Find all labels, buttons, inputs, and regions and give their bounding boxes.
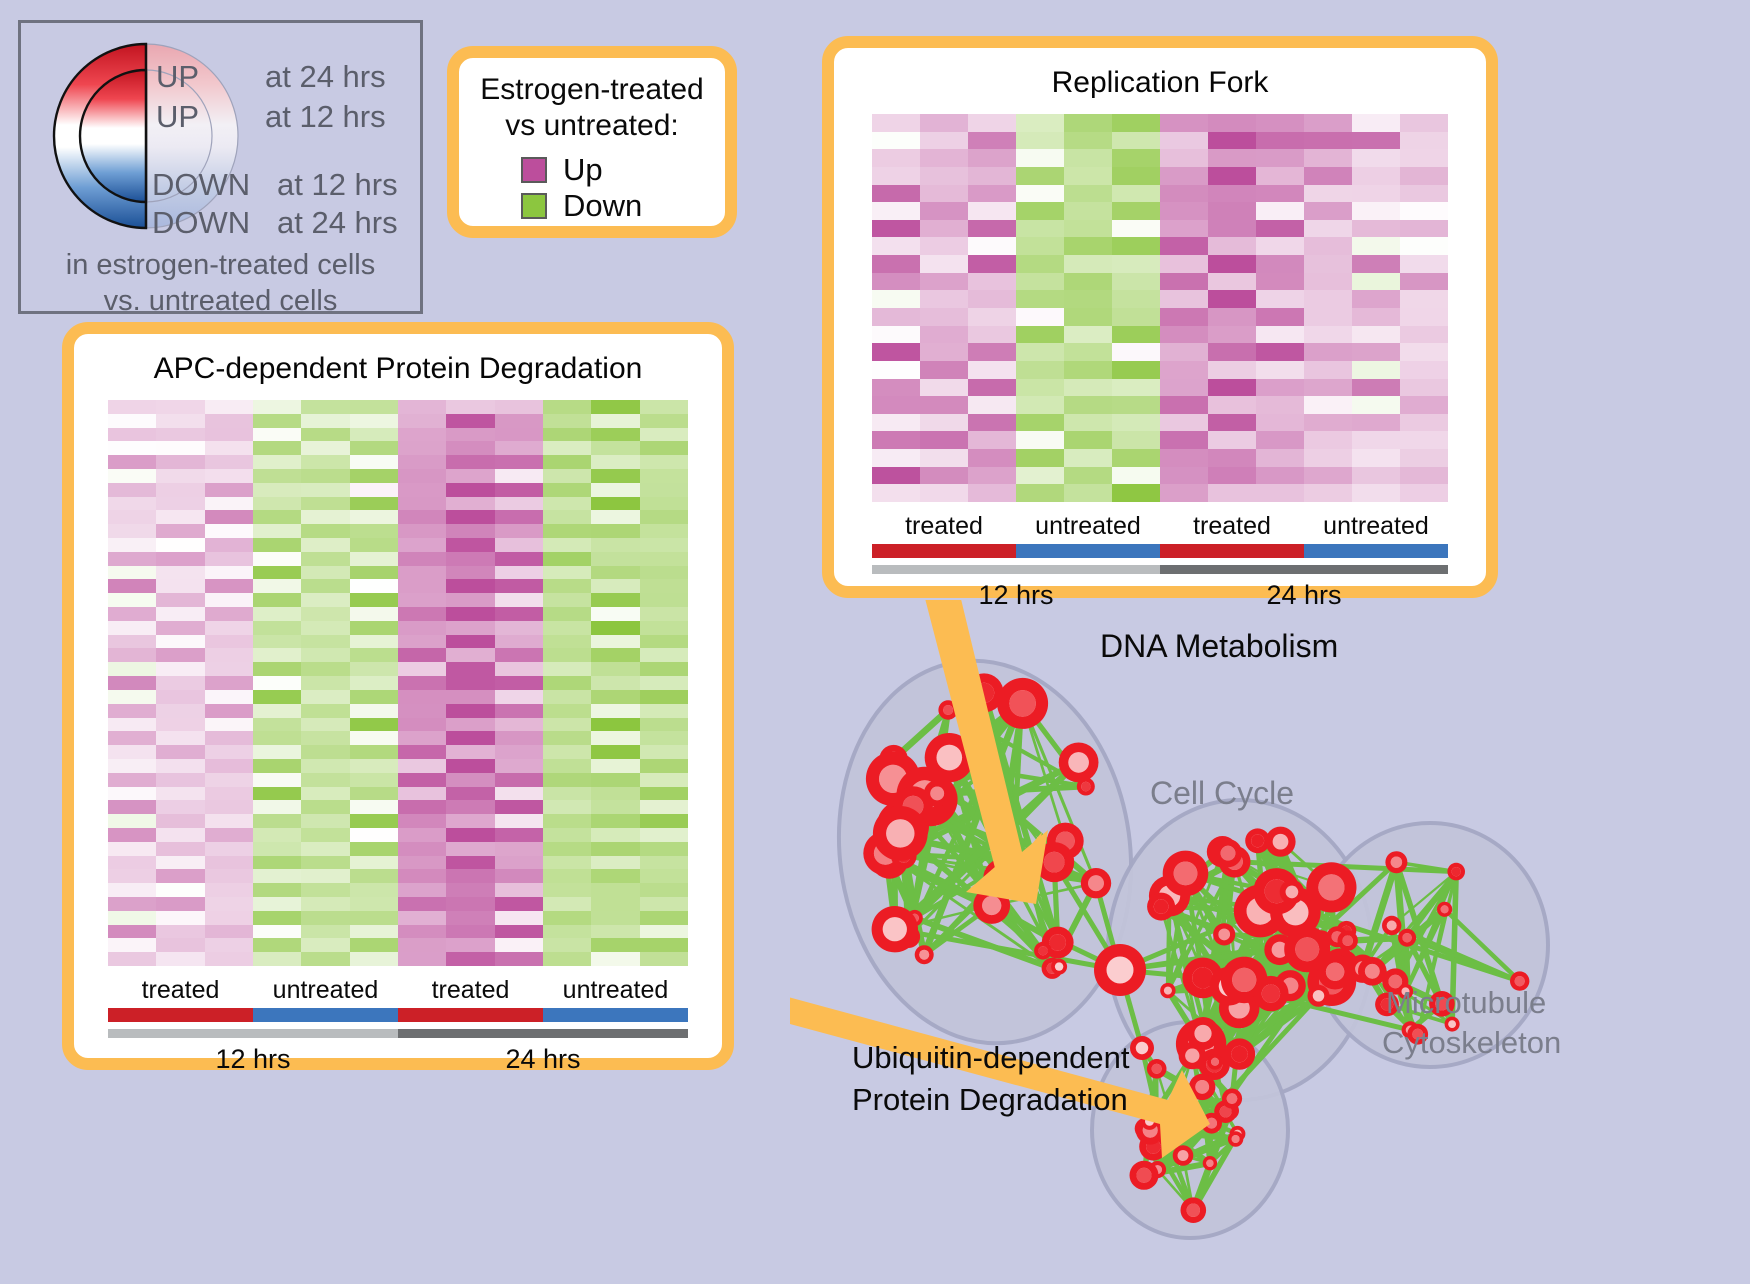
heatmap-cell — [1208, 396, 1256, 414]
heatmap-cell — [1208, 379, 1256, 397]
heatmap-cell — [301, 731, 349, 745]
heatmap-cell — [872, 167, 920, 185]
heatmap-cell — [108, 469, 156, 483]
heatmap-cell — [1160, 185, 1208, 203]
heatmap-cell — [543, 952, 591, 966]
heatmap-cell — [543, 579, 591, 593]
heatmap-cell — [920, 290, 968, 308]
heatmap-cell — [968, 167, 1016, 185]
heatmap-cell — [253, 842, 301, 856]
network-node-fill — [1187, 1204, 1200, 1217]
heatmap-cell — [398, 828, 446, 842]
heatmap-cell — [205, 718, 253, 732]
heatmap-cell — [108, 676, 156, 690]
heatmap-cell — [872, 185, 920, 203]
heatmap-cell — [156, 828, 204, 842]
heatmap-cell — [1112, 132, 1160, 150]
heatmap-cell — [543, 925, 591, 939]
heatmap-cell — [1016, 114, 1064, 132]
heatmap-cell — [156, 800, 204, 814]
heatmap-cell — [446, 593, 494, 607]
network-node-fill — [1137, 1168, 1152, 1183]
heatmap-cell — [872, 431, 920, 449]
heatmap-cell — [591, 897, 639, 911]
heatmap-cell — [398, 718, 446, 732]
heatmap-cell — [156, 441, 204, 455]
heatmap-cell — [253, 400, 301, 414]
heatmap-cell — [205, 911, 253, 925]
heatmap-cell — [640, 538, 688, 552]
heatmap-cell — [543, 883, 591, 897]
heatmap-cell — [1016, 484, 1064, 502]
heatmap-cell — [446, 938, 494, 952]
heatmap-cell — [108, 704, 156, 718]
heatmap-cell — [398, 400, 446, 414]
heatmap-cell — [108, 773, 156, 787]
heatmap-cell — [301, 497, 349, 511]
heatmap-cell — [1304, 431, 1352, 449]
heatmap-cell — [1304, 414, 1352, 432]
heatmap-cell — [205, 469, 253, 483]
heatmap-cell — [253, 579, 301, 593]
panel-title-replication-fork: Replication Fork — [834, 66, 1486, 100]
group-label-2: treated — [398, 976, 543, 1005]
heatmap-cell — [398, 800, 446, 814]
heatmap-cell — [1400, 167, 1448, 185]
heatmap-cell — [156, 538, 204, 552]
heatmap-cell — [350, 787, 398, 801]
network-node-fill — [1286, 886, 1299, 899]
heatmap-cell — [156, 566, 204, 580]
heatmap-cell — [1304, 449, 1352, 467]
heatmap-cell — [1304, 379, 1352, 397]
heatmap-cell — [301, 483, 349, 497]
heatmap-cell — [968, 185, 1016, 203]
heatmap-cell — [253, 773, 301, 787]
heatmap-cell — [446, 552, 494, 566]
network-node-fill — [1387, 921, 1397, 931]
network-node-fill — [1174, 862, 1198, 886]
heatmap-replication-fork — [872, 114, 1448, 502]
heatmap-cell — [495, 441, 543, 455]
heatmap-cell — [495, 690, 543, 704]
network-node-fill — [1088, 875, 1104, 891]
heatmap-cell — [1400, 379, 1448, 397]
heatmap-cell — [205, 883, 253, 897]
heatmap-cell — [872, 467, 920, 485]
heatmap-cell — [205, 745, 253, 759]
heatmap-cell — [591, 469, 639, 483]
legend-item-up: Up — [521, 152, 725, 188]
group-label-1: untreated — [253, 976, 398, 1005]
heatmap-cell — [301, 925, 349, 939]
heatmap-cell — [108, 745, 156, 759]
heatmap-cell — [350, 759, 398, 773]
heatmap-cell — [495, 814, 543, 828]
heatmap-cell — [495, 759, 543, 773]
heatmap-cell — [968, 237, 1016, 255]
network-node-fill — [1194, 1025, 1211, 1042]
heatmap-cell — [253, 497, 301, 511]
heatmap-cell — [495, 952, 543, 966]
heatmap-cell — [495, 745, 543, 759]
heatmap-cell — [1208, 114, 1256, 132]
group-label-2: treated — [1160, 512, 1304, 541]
heatmap-cell — [156, 856, 204, 870]
heatmap-cell — [253, 648, 301, 662]
cluster-label-dna-metabolism: DNA Metabolism — [1100, 628, 1338, 665]
heatmap-cell — [640, 800, 688, 814]
heatmap-cell — [543, 869, 591, 883]
heatmap-cell — [640, 579, 688, 593]
heatmap-cell — [1304, 273, 1352, 291]
heatmap-cell — [398, 441, 446, 455]
heatmap-cell — [640, 745, 688, 759]
heatmap-cell — [446, 441, 494, 455]
heatmap-cell — [543, 524, 591, 538]
network-node-fill — [1342, 935, 1353, 946]
heatmap-cell — [640, 911, 688, 925]
network-node-fill — [1164, 987, 1172, 995]
heatmap-cell — [640, 497, 688, 511]
heatmap-cell — [1304, 467, 1352, 485]
network-node-fill — [919, 950, 929, 960]
heatmap-cell — [1160, 273, 1208, 291]
heatmap-cell — [156, 704, 204, 718]
heatmap-cell — [350, 621, 398, 635]
heatmap-cell — [495, 428, 543, 442]
heatmap-cell — [1064, 467, 1112, 485]
heatmap-cell — [156, 883, 204, 897]
heatmap-cell — [1304, 484, 1352, 502]
heatmap-cell — [446, 483, 494, 497]
network-node-fill — [1178, 1150, 1189, 1161]
heatmap-cell — [1160, 431, 1208, 449]
network-node-fill — [1044, 852, 1065, 873]
heatmap-cell — [108, 800, 156, 814]
heatmap-cell — [1352, 343, 1400, 361]
heatmap-cell — [301, 510, 349, 524]
group-label-0: treated — [108, 976, 253, 1005]
heatmap-cell — [108, 883, 156, 897]
heatmap-cell — [968, 396, 1016, 414]
heatmap-cell — [1304, 114, 1352, 132]
heatmap-cell — [350, 538, 398, 552]
heatmap-cell — [156, 952, 204, 966]
heatmap-cell — [350, 704, 398, 718]
heatmap-cell — [398, 621, 446, 635]
heatmap-cell — [301, 428, 349, 442]
heatmap-cell — [156, 455, 204, 469]
heatmap-cell — [543, 455, 591, 469]
heatmap-cell — [640, 773, 688, 787]
heatmap-cell — [1304, 185, 1352, 203]
heatmap-cell — [205, 441, 253, 455]
updown-legend-items: Up Down — [459, 152, 725, 224]
group-bar-0 — [872, 544, 1016, 558]
heatmap-cell — [543, 759, 591, 773]
heatmap-cell — [301, 400, 349, 414]
heatmap-cell — [205, 925, 253, 939]
heatmap-cell — [920, 149, 968, 167]
heatmap-cell — [543, 510, 591, 524]
network-node-fill — [1441, 905, 1449, 913]
heatmap-apc — [108, 400, 688, 966]
heatmap-cell — [108, 428, 156, 442]
heatmap-cell — [1352, 255, 1400, 273]
heatmap-cell — [1064, 114, 1112, 132]
heatmap-cell — [968, 149, 1016, 167]
heatmap-cell — [1208, 149, 1256, 167]
heatmap-cell — [640, 483, 688, 497]
heatmap-cell — [398, 883, 446, 897]
heatmap-cell — [1208, 273, 1256, 291]
heatmap-cell — [1256, 379, 1304, 397]
updown-legend-title: Estrogen-treated vs untreated: — [459, 72, 725, 144]
panel-title-apc: APC-dependent Protein Degradation — [74, 352, 722, 386]
heatmap-cell — [398, 952, 446, 966]
heatmap-cell — [1016, 431, 1064, 449]
heatmap-cell — [446, 883, 494, 897]
heatmap-cell — [108, 856, 156, 870]
heatmap-cell — [1304, 343, 1352, 361]
heatmap-cell — [301, 745, 349, 759]
heatmap-cell — [640, 828, 688, 842]
heatmap-cell — [920, 308, 968, 326]
heatmap-cell — [446, 828, 494, 842]
heatmap-cell — [543, 400, 591, 414]
heatmap-cell — [446, 925, 494, 939]
heatmap-cell — [1160, 202, 1208, 220]
heatmap-cell — [108, 869, 156, 883]
heatmap-cell — [872, 114, 920, 132]
heatmap-cell — [968, 414, 1016, 432]
heatmap-cell — [1304, 132, 1352, 150]
heatmap-cell — [543, 428, 591, 442]
heatmap-cell — [1400, 220, 1448, 238]
heatmap-cell — [543, 773, 591, 787]
heatmap-cell — [495, 800, 543, 814]
heatmap-cell — [640, 607, 688, 621]
heatmap-cell — [301, 828, 349, 842]
network-node-fill — [1402, 933, 1411, 942]
heatmap-cell — [495, 648, 543, 662]
heatmap-cell — [350, 828, 398, 842]
heatmap-cell — [205, 842, 253, 856]
heatmap-cell — [640, 621, 688, 635]
heatmap-cell — [1400, 361, 1448, 379]
heatmap-cell — [591, 483, 639, 497]
network-node-fill — [1391, 857, 1402, 868]
heatmap-cell — [543, 621, 591, 635]
heatmap-cell — [301, 869, 349, 883]
heatmap-cell — [1112, 202, 1160, 220]
heatmap-cell — [495, 828, 543, 842]
heatmap-cell — [301, 566, 349, 580]
heatmap-cell — [640, 787, 688, 801]
heatmap-cell — [640, 925, 688, 939]
heatmap-cell — [205, 635, 253, 649]
heatmap-cell — [1064, 290, 1112, 308]
heatmap-cell — [1064, 484, 1112, 502]
heatmap-cell — [495, 566, 543, 580]
heatmap-cell — [591, 621, 639, 635]
heatmap-cell — [156, 731, 204, 745]
heatmap-cell — [920, 484, 968, 502]
heatmap-cell — [968, 290, 1016, 308]
heatmap-cell — [350, 773, 398, 787]
heatmap-cell — [350, 579, 398, 593]
heatmap-cell — [1352, 484, 1400, 502]
heatmap-cell — [872, 343, 920, 361]
heatmap-cell — [920, 343, 968, 361]
heatmap-cell — [108, 814, 156, 828]
heatmap-cell — [253, 828, 301, 842]
heatmap-cell — [1112, 273, 1160, 291]
heatmap-cell — [591, 497, 639, 511]
heatmap-cell — [446, 607, 494, 621]
heatmap-cell — [1400, 431, 1448, 449]
heatmap-cell — [1304, 237, 1352, 255]
heatmap-cell — [1016, 149, 1064, 167]
heatmap-cell — [543, 497, 591, 511]
heatmap-cell — [446, 814, 494, 828]
heatmap-cell — [640, 428, 688, 442]
network-diagram: DNA Metabolism Cell Cycle Microtubule Cy… — [790, 600, 1750, 1279]
heatmap-cell — [1208, 361, 1256, 379]
heatmap-cell — [543, 662, 591, 676]
heatmap-cell — [640, 938, 688, 952]
heatmap-cell — [968, 114, 1016, 132]
heatmap-cell — [872, 202, 920, 220]
heatmap-cell — [495, 455, 543, 469]
heatmap-cell — [398, 676, 446, 690]
heatmap-cell — [301, 579, 349, 593]
timepoint-bar-24hrs — [398, 1029, 688, 1038]
heatmap-cell — [591, 510, 639, 524]
heatmap-cell — [301, 897, 349, 911]
heatmap-cell — [968, 379, 1016, 397]
heatmap-cell — [1064, 431, 1112, 449]
heatmap-cell — [398, 759, 446, 773]
heatmap-cell — [1016, 167, 1064, 185]
heatmap-cell — [1064, 361, 1112, 379]
heatmap-cell — [446, 635, 494, 649]
heatmap-cell — [1304, 149, 1352, 167]
heatmap-cell — [156, 869, 204, 883]
heatmap-cell — [156, 662, 204, 676]
heatmap-cell — [398, 745, 446, 759]
heatmap-cell — [1304, 290, 1352, 308]
heatmap-cell — [591, 566, 639, 580]
heatmap-cell — [205, 579, 253, 593]
heatmap-cell — [872, 237, 920, 255]
heatmap-cell — [398, 635, 446, 649]
heatmap-cell — [253, 414, 301, 428]
heatmap-cell — [350, 952, 398, 966]
heatmap-cell — [591, 773, 639, 787]
heatmap-cell — [591, 648, 639, 662]
heatmap-cell — [108, 579, 156, 593]
heatmap-cell — [495, 856, 543, 870]
network-node-fill — [1038, 946, 1047, 955]
heatmap-cell — [1400, 467, 1448, 485]
heatmap-cell — [205, 938, 253, 952]
heatmap-cell — [1112, 185, 1160, 203]
heatmap-cell — [1160, 149, 1208, 167]
heatmap-cell — [495, 704, 543, 718]
heatmap-cell — [205, 731, 253, 745]
heatmap-cell — [1064, 185, 1112, 203]
heatmap-cell — [253, 759, 301, 773]
heatmap-cell — [1112, 308, 1160, 326]
heatmap-cell — [1208, 308, 1256, 326]
heatmap-cell — [108, 593, 156, 607]
heatmap-cell — [446, 676, 494, 690]
heatmap-cell — [591, 441, 639, 455]
heatmap-cell — [350, 842, 398, 856]
heatmap-cell — [1016, 255, 1064, 273]
heatmap-cell — [495, 883, 543, 897]
heatmap-cell — [1256, 132, 1304, 150]
heatmap-cell — [350, 497, 398, 511]
heatmap-cell — [301, 414, 349, 428]
heatmap-cell — [1400, 149, 1448, 167]
heatmap-cell — [1112, 449, 1160, 467]
heatmap-cell — [1400, 484, 1448, 502]
heatmap-cell — [495, 552, 543, 566]
cluster-label-microtubule: Microtubule — [1386, 985, 1546, 1021]
heatmap-cell — [1064, 220, 1112, 238]
heatmap-cell — [1064, 396, 1112, 414]
heatmap-cell — [205, 828, 253, 842]
heatmap-cell — [872, 396, 920, 414]
network-node-fill — [1295, 937, 1319, 961]
heatmap-cell — [446, 842, 494, 856]
heatmap-cell — [543, 635, 591, 649]
heatmap-cell — [156, 759, 204, 773]
heatmap-cell — [108, 497, 156, 511]
heatmap-cell — [253, 510, 301, 524]
heatmap-cell — [920, 431, 968, 449]
heatmap-cell — [446, 787, 494, 801]
color-key-value-1: UP — [156, 99, 199, 135]
color-key-caption: in estrogen-treated cells vs. untreated … — [21, 247, 420, 319]
heatmap-cell — [495, 497, 543, 511]
heatmap-cell — [398, 704, 446, 718]
heatmap-cell — [1016, 237, 1064, 255]
heatmap-cell — [591, 593, 639, 607]
heatmap-cell — [1160, 379, 1208, 397]
heatmap-cell — [398, 690, 446, 704]
heatmap-cell — [872, 220, 920, 238]
heatmap-cell — [543, 469, 591, 483]
heatmap-cell — [253, 814, 301, 828]
heatmap-cell — [1016, 326, 1064, 344]
heatmap-cell — [446, 469, 494, 483]
heatmap-cell — [640, 400, 688, 414]
heatmap-cell — [920, 449, 968, 467]
heatmap-cell — [398, 483, 446, 497]
heatmap-cell — [205, 566, 253, 580]
heatmap-cell — [591, 607, 639, 621]
cluster-label-ubiquitin-dependent: Ubiquitin-dependent — [852, 1040, 1130, 1076]
heatmap-cell — [1400, 396, 1448, 414]
heatmap-cell — [1208, 431, 1256, 449]
heatmap-cell — [1256, 167, 1304, 185]
panel-replication-fork: Replication Fork treated untreated treat… — [822, 36, 1498, 598]
heatmap-cell — [640, 469, 688, 483]
